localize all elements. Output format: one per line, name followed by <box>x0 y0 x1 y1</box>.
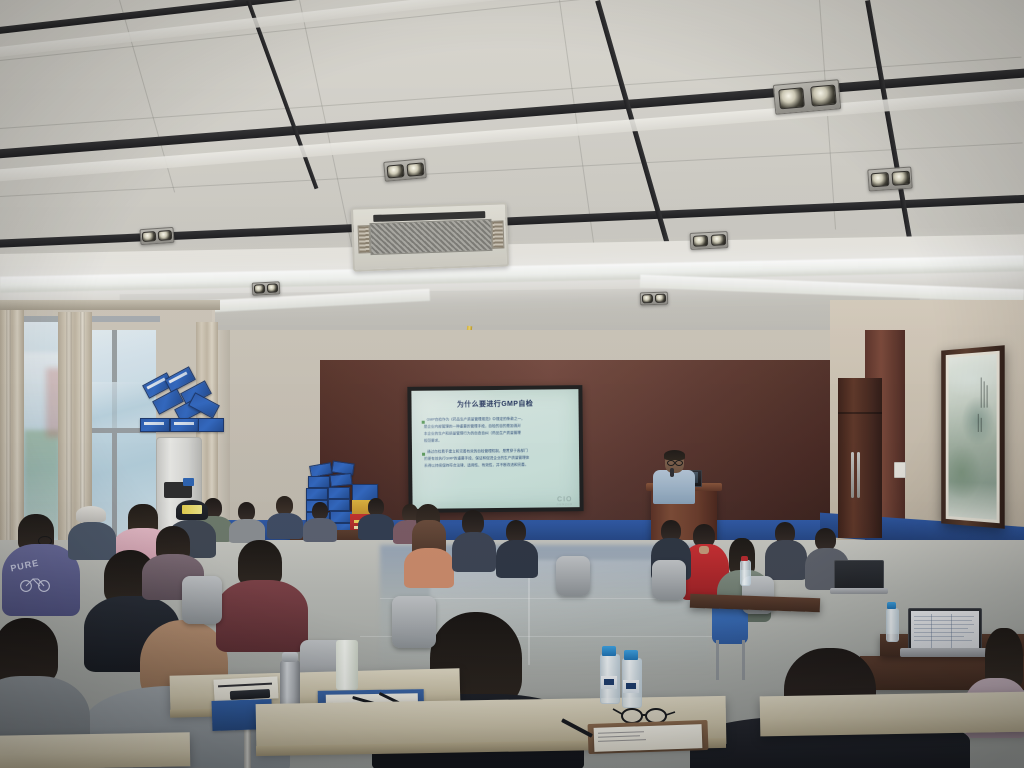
slide-text-line: 系得以持续保持符合法律、适用性、有效性，并不断改进和完善。 <box>424 464 528 469</box>
table-left-front <box>0 732 190 768</box>
chair[interactable] <box>182 576 222 624</box>
bottle-cap-icon <box>624 650 638 660</box>
bottle-cap-icon <box>887 602 896 609</box>
chair[interactable] <box>392 596 436 648</box>
ceiling-spotlight-fixture <box>252 281 281 295</box>
ceiling-spotlight-fixture <box>640 292 668 306</box>
ceiling-spotlight-fixture <box>383 158 427 182</box>
chair-leg <box>742 640 745 680</box>
bottle-cap-icon <box>602 646 616 656</box>
slide-title: 为什么要进行GMP自检 <box>411 398 578 410</box>
cap-graphic <box>182 505 202 514</box>
wood-door[interactable] <box>838 378 882 538</box>
chair[interactable] <box>556 556 590 596</box>
slide-text-line: GMP自检作为《药品生产质量管理规范》中规定的条款之一， <box>427 418 525 423</box>
attendee-laptop-base[interactable] <box>900 648 988 657</box>
door-seam <box>838 412 882 414</box>
presenter-torso <box>653 470 695 504</box>
water-bottle[interactable] <box>740 560 751 586</box>
attendee-white-cap <box>76 506 106 522</box>
attendee-head <box>0 618 58 684</box>
attendee-shoulders <box>358 514 394 540</box>
chair[interactable] <box>652 560 686 600</box>
ceiling-spotlight-fixture <box>867 166 912 191</box>
photo-scene: 为什么要进行GMP自检 GMP自检作为《药品生产质量管理规范》中规定的条款之一，… <box>0 0 1024 768</box>
door-handle-icon[interactable] <box>851 452 854 498</box>
attendee-shoulders <box>404 548 454 588</box>
curtain-rail <box>0 300 220 310</box>
attendee-laptop-base[interactable] <box>830 588 888 594</box>
open-book-pages[interactable] <box>594 724 703 752</box>
product-display-left <box>132 372 224 438</box>
slide-text-line: 本企业的生产和质量管理行为的自查自纠（药品生产质量管理 <box>424 432 521 437</box>
water-bottle[interactable] <box>886 608 899 642</box>
attendee-maroon-shirt <box>216 580 308 652</box>
thermos-cap <box>282 652 298 662</box>
bottle-label-mark <box>626 683 636 689</box>
slide-bullet-icon <box>422 453 425 456</box>
microphone-icon <box>670 468 674 477</box>
bicycle-icon <box>18 574 52 592</box>
ceiling-spotlight-fixture <box>690 231 729 250</box>
light-switch-icon[interactable] <box>894 462 906 478</box>
slide-text-line: 的更有效执行GMP的重要手段，保证和促进企业的生产质量管理体 <box>424 457 529 462</box>
slide-text-line: 规范要求。 <box>424 440 442 444</box>
bottle-label-mark <box>604 679 614 685</box>
ac-brand-badge <box>183 478 194 486</box>
presenter-glasses-icon <box>675 460 683 466</box>
attendee-face <box>699 546 709 554</box>
tumbler[interactable] <box>336 640 358 690</box>
chair-leg <box>716 640 719 680</box>
presenter-glasses-icon <box>667 460 675 466</box>
attendee-shoulders <box>452 532 496 572</box>
ceiling-cassette-ac-icon <box>351 202 509 271</box>
slide-text-line: 通过自检着手建立和完善有效的自检管理机制，是贯穿于各部门 <box>427 450 528 455</box>
attendee-shoulders <box>68 522 116 560</box>
slide-bullet-icon <box>422 421 425 424</box>
table-right-front <box>760 692 1024 737</box>
attendee-shoulders <box>496 540 538 578</box>
ceiling-spotlight-fixture <box>139 227 174 245</box>
chinese-landscape-painting <box>949 354 997 520</box>
attendee-shoulders <box>765 540 807 580</box>
bottle-cap-icon <box>741 556 748 561</box>
door-handle-icon[interactable] <box>857 452 860 498</box>
presenter-hair <box>664 450 685 460</box>
slide-text-line: 是企业内部管理的一种重要的管理手段，自检的目的是加强对 <box>424 425 521 430</box>
audience-mid-row <box>390 500 650 600</box>
ceiling-spotlight-fixture <box>773 79 841 115</box>
attendee-laptop[interactable] <box>908 608 982 652</box>
